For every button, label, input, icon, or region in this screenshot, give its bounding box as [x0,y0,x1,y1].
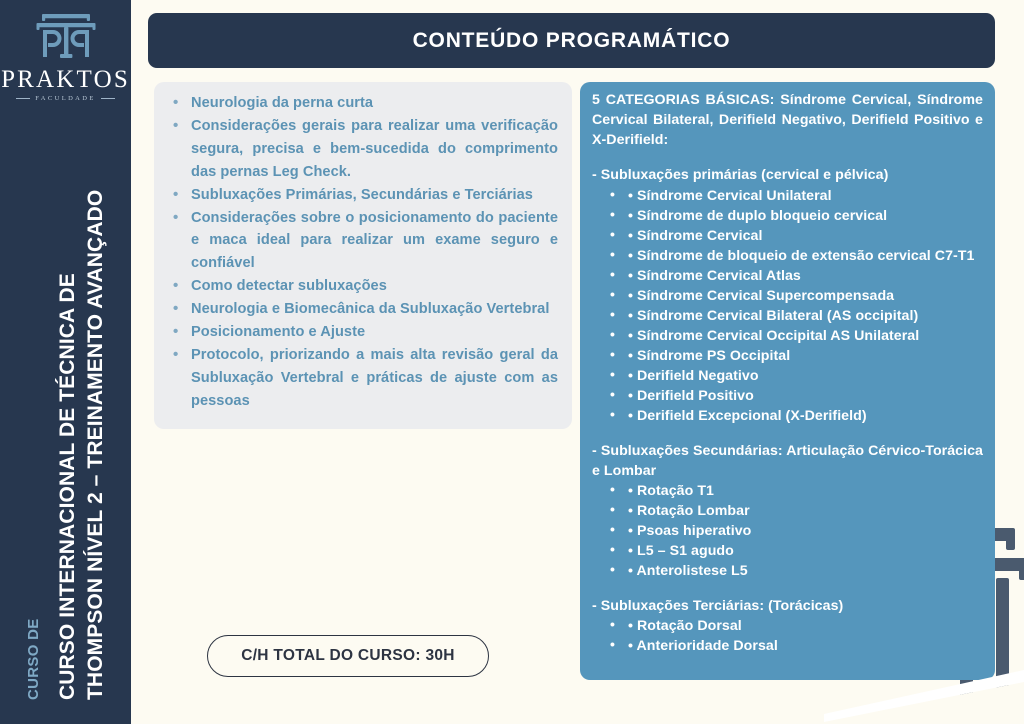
right-section-item: • L5 – S1 agudo [592,541,983,561]
right-section-item: • Síndrome Cervical Atlas [592,266,983,286]
right-section-list: • Rotação T1• Rotação Lombar• Psoas hipe… [592,481,983,581]
left-topic-list: Neurologia da perna curtaConsiderações g… [168,92,558,413]
right-section-item: • Síndrome Cervical Supercompensada [592,286,983,306]
left-topic-item: Posicionamento e Ajuste [168,321,558,344]
right-section-item: • Síndrome PS Occipital [592,346,983,366]
right-section-item: • Psoas hiperativo [592,521,983,541]
right-section-heading: - Subluxações Terciárias: (Torácicas) [592,596,983,616]
hours-badge-label: C/H TOTAL DO CURSO: 30H [241,647,455,665]
right-section-heading: - Subluxações primárias (cervical e pélv… [592,165,983,185]
left-topic-item: Neurologia e Biomecânica da Subluxação V… [168,298,558,321]
right-section-item: • Síndrome Cervical Bilateral (AS occipi… [592,306,983,326]
right-section-item: • Rotação Lombar [592,501,983,521]
sidebar-title-line-2: THOMPSON NÍVEL 2 – TREINAMENTO AVANÇADO [85,190,106,700]
sidebar-vertical-title-group: CURSO DE CURSO INTERNACIONAL DE TÉCNICA … [0,0,131,724]
right-section-item: • Síndrome Cervical Occipital AS Unilate… [592,326,983,346]
right-section-list: • Rotação Dorsal• Anterioridade Dorsal [592,616,983,656]
right-section-item: • Síndrome de bloqueio de extensão cervi… [592,246,983,266]
right-section-item: • Síndrome Cervical Unilateral [592,186,983,206]
header-bar: CONTEÚDO PROGRAMÁTICO [148,13,995,68]
right-sections-container: - Subluxações primárias (cervical e pélv… [592,150,983,656]
sidebar-title-line-1: CURSO INTERNACIONAL DE TÉCNICA DE [57,273,78,700]
left-topic-item: Como detectar subluxações [168,275,558,298]
left-topic-item: Considerações gerais para realizar uma v… [168,115,558,184]
right-section-heading: - Subluxações Secundárias: Articulação C… [592,441,983,481]
page-title: CONTEÚDO PROGRAMÁTICO [413,29,731,53]
slide-root: PRAKTOS FACULDADE CURSO DE CURSO INTERNA… [0,0,1024,724]
right-panel-intro: 5 CATEGORIAS BÁSICAS: Síndrome Cervical,… [592,90,983,150]
left-topic-item: Neurologia da perna curta [168,92,558,115]
right-section-item: • Rotação T1 [592,481,983,501]
sidebar: PRAKTOS FACULDADE CURSO DE CURSO INTERNA… [0,0,131,724]
left-topic-item: Considerações sobre o posicionamento do … [168,207,558,276]
left-content-card: Neurologia da perna curtaConsiderações g… [154,82,572,429]
right-section-item: • Derifield Negativo [592,366,983,386]
section-spacer [592,150,983,165]
section-spacer [592,426,983,441]
right-section-item: • Síndrome de duplo bloqueio cervical [592,206,983,226]
sidebar-eyebrow: CURSO DE [26,618,41,700]
right-section-item: • Anterioridade Dorsal [592,636,983,656]
right-section-item: • Anterolistese L5 [592,561,983,581]
right-section-list: • Síndrome Cervical Unilateral• Síndrome… [592,186,983,426]
right-section-item: • Derifield Excepcional (X-Derifield) [592,406,983,426]
right-content-card: 5 CATEGORIAS BÁSICAS: Síndrome Cervical,… [580,82,995,680]
right-section-item: • Rotação Dorsal [592,616,983,636]
section-spacer [592,581,983,596]
right-section-item: • Síndrome Cervical [592,226,983,246]
hours-badge: C/H TOTAL DO CURSO: 30H [207,635,489,677]
left-topic-item: Protocolo, priorizando a mais alta revis… [168,344,558,413]
right-section-item: • Derifield Positivo [592,386,983,406]
left-topic-item: Subluxações Primárias, Secundárias e Ter… [168,184,558,207]
